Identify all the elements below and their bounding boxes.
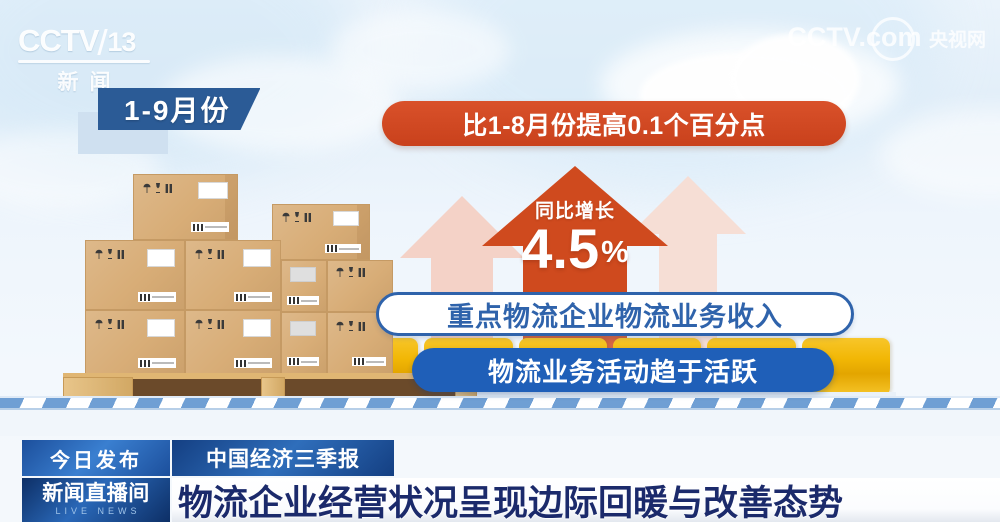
cctv-logo-text: CCTV13 <box>18 24 150 59</box>
logo-underline <box>18 60 150 63</box>
lower-third: 今日发布 中国经济三季报 新闻直播间 LIVE NEWS 物流企业经营状况呈现边… <box>0 436 1000 522</box>
cctv-channel-number: 13 <box>107 27 135 57</box>
cargo-box <box>133 174 238 240</box>
barcode <box>352 357 386 366</box>
handling-icons <box>282 212 312 223</box>
handling-icons <box>95 319 125 330</box>
this-side-up-icon <box>165 183 173 194</box>
shipping-label <box>333 211 359 226</box>
growth-number: 4.5 <box>521 217 599 280</box>
shipping-label <box>198 182 228 199</box>
growth-unit: % <box>601 234 629 269</box>
cargo-box <box>185 240 281 310</box>
fragile-glass-icon <box>106 319 114 330</box>
this-side-up-icon <box>117 319 125 330</box>
cctv-com-watermark: CCTV.com 央视网 <box>787 22 986 53</box>
watermark-ring-icon <box>871 17 915 61</box>
floor-surface <box>0 410 1000 436</box>
comparison-banner: 比1-8月份提高0.1个百分点 <box>382 101 846 146</box>
program-name-en: LIVE NEWS <box>51 505 140 517</box>
cargo-box <box>281 260 327 312</box>
cargo-box <box>281 312 327 374</box>
fragile-glass-icon <box>106 249 114 260</box>
shipping-label <box>290 267 316 282</box>
shipping-label <box>243 319 271 337</box>
this-side-up-icon <box>217 319 225 330</box>
growth-value: 4.5% <box>482 220 668 281</box>
program-badge: 新闻直播间 LIVE NEWS <box>22 478 170 522</box>
headline-text: 物流企业经营状况呈现边际回暖与改善态势 <box>172 478 843 522</box>
watermark-chinese: 央视网 <box>929 30 986 51</box>
umbrella-icon <box>95 319 103 330</box>
barcode <box>325 244 361 253</box>
this-side-up-icon <box>117 249 125 260</box>
cargo-box <box>85 310 185 376</box>
shipping-label <box>290 321 316 336</box>
barcode <box>138 292 176 302</box>
barcode <box>191 222 229 232</box>
program-name-cn: 新闻直播间 <box>42 483 150 505</box>
handling-icons <box>336 321 366 332</box>
cargo-box <box>272 204 370 260</box>
fragile-glass-icon <box>206 249 214 260</box>
this-side-up-icon <box>358 321 366 332</box>
fragile-glass-icon <box>154 183 162 194</box>
fragile-glass-icon <box>347 321 355 332</box>
fragile-glass-icon <box>206 319 214 330</box>
handling-icons <box>336 267 366 278</box>
handling-icons <box>195 249 225 260</box>
this-side-up-icon <box>304 212 312 223</box>
cloud <box>330 10 510 90</box>
fragile-glass-icon <box>293 212 301 223</box>
fragile-glass-icon <box>347 267 355 278</box>
this-side-up-icon <box>217 249 225 260</box>
cargo-box <box>185 310 281 376</box>
umbrella-icon <box>195 319 203 330</box>
this-side-up-icon <box>358 267 366 278</box>
umbrella-icon <box>282 212 290 223</box>
barcode <box>234 292 272 302</box>
barcode <box>287 296 319 305</box>
barcode <box>138 358 176 368</box>
umbrella-icon <box>336 267 344 278</box>
tag-topic: 中国经济三季报 <box>172 440 394 476</box>
shipping-label <box>147 249 175 267</box>
floor-stripe-line <box>0 396 1000 410</box>
handling-icons <box>195 319 225 330</box>
cctv-wordmark: CCTV <box>18 23 98 58</box>
tag-today: 今日发布 <box>22 440 170 476</box>
broadcast-screenshot: CCTV13 新闻 CCTV.com 央视网 1-9月份 比1-8月份提高0.1… <box>0 0 1000 522</box>
headline-bar: 物流企业经营状况呈现边际回暖与改善态势 <box>172 478 1000 522</box>
umbrella-icon <box>336 321 344 332</box>
handling-icons <box>143 183 173 194</box>
shipping-label <box>147 319 175 337</box>
handling-icons <box>95 249 125 260</box>
conclusion-banner: 物流业务活动趋于活跃 <box>412 348 834 392</box>
umbrella-icon <box>195 249 203 260</box>
cctv13-logo: CCTV13 新闻 <box>18 24 150 90</box>
umbrella-icon <box>143 183 151 194</box>
umbrella-icon <box>95 249 103 260</box>
cargo-box <box>85 240 185 310</box>
metric-title-banner: 重点物流企业物流业务收入 <box>376 292 854 336</box>
period-banner: 1-9月份 <box>98 88 260 130</box>
cloud <box>880 110 1000 200</box>
barcode <box>287 357 319 366</box>
barcode <box>234 358 272 368</box>
shipping-label <box>243 249 271 267</box>
